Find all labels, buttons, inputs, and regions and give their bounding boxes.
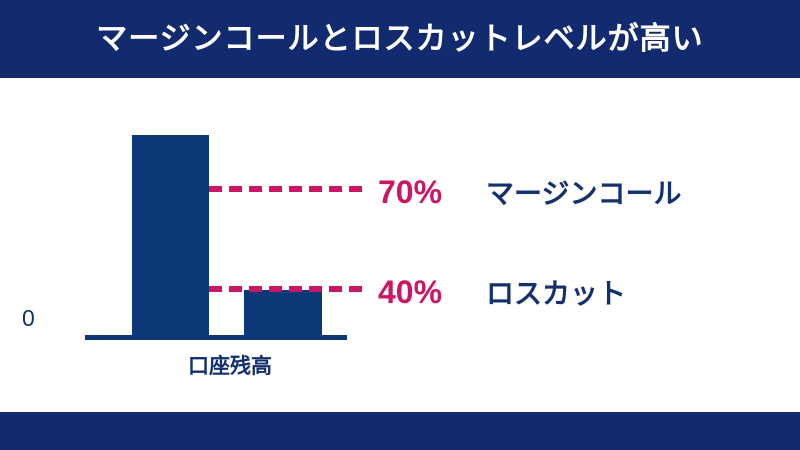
x-axis-category-label: 口座残高 bbox=[132, 350, 328, 380]
slide-canvas: マージンコールとロスカットレベルが高い 0 口座残高 70% マージンコール 4… bbox=[0, 0, 800, 450]
threshold-value-loss-cut: 40% bbox=[378, 274, 486, 311]
threshold-dashed-line-loss-cut bbox=[209, 286, 366, 292]
threshold-name-margin-call: マージンコール bbox=[486, 172, 681, 212]
y-axis-zero-label: 0 bbox=[22, 305, 35, 332]
threshold-dashed-line-margin-call bbox=[209, 186, 366, 192]
threshold-label-loss-cut: 40% ロスカット bbox=[378, 272, 626, 312]
x-axis-line bbox=[85, 335, 347, 340]
bar-chart: 0 口座残高 70% マージンコール 40% ロスカット bbox=[0, 78, 800, 412]
footer-band bbox=[0, 412, 800, 450]
threshold-name-loss-cut: ロスカット bbox=[486, 272, 626, 312]
threshold-value-margin-call: 70% bbox=[378, 174, 486, 211]
bar-account-balance bbox=[132, 135, 209, 335]
bar-loss-cut-level bbox=[244, 290, 322, 335]
threshold-label-margin-call: 70% マージンコール bbox=[378, 172, 681, 212]
page-title: マージンコールとロスカットレベルが高い bbox=[0, 0, 800, 78]
